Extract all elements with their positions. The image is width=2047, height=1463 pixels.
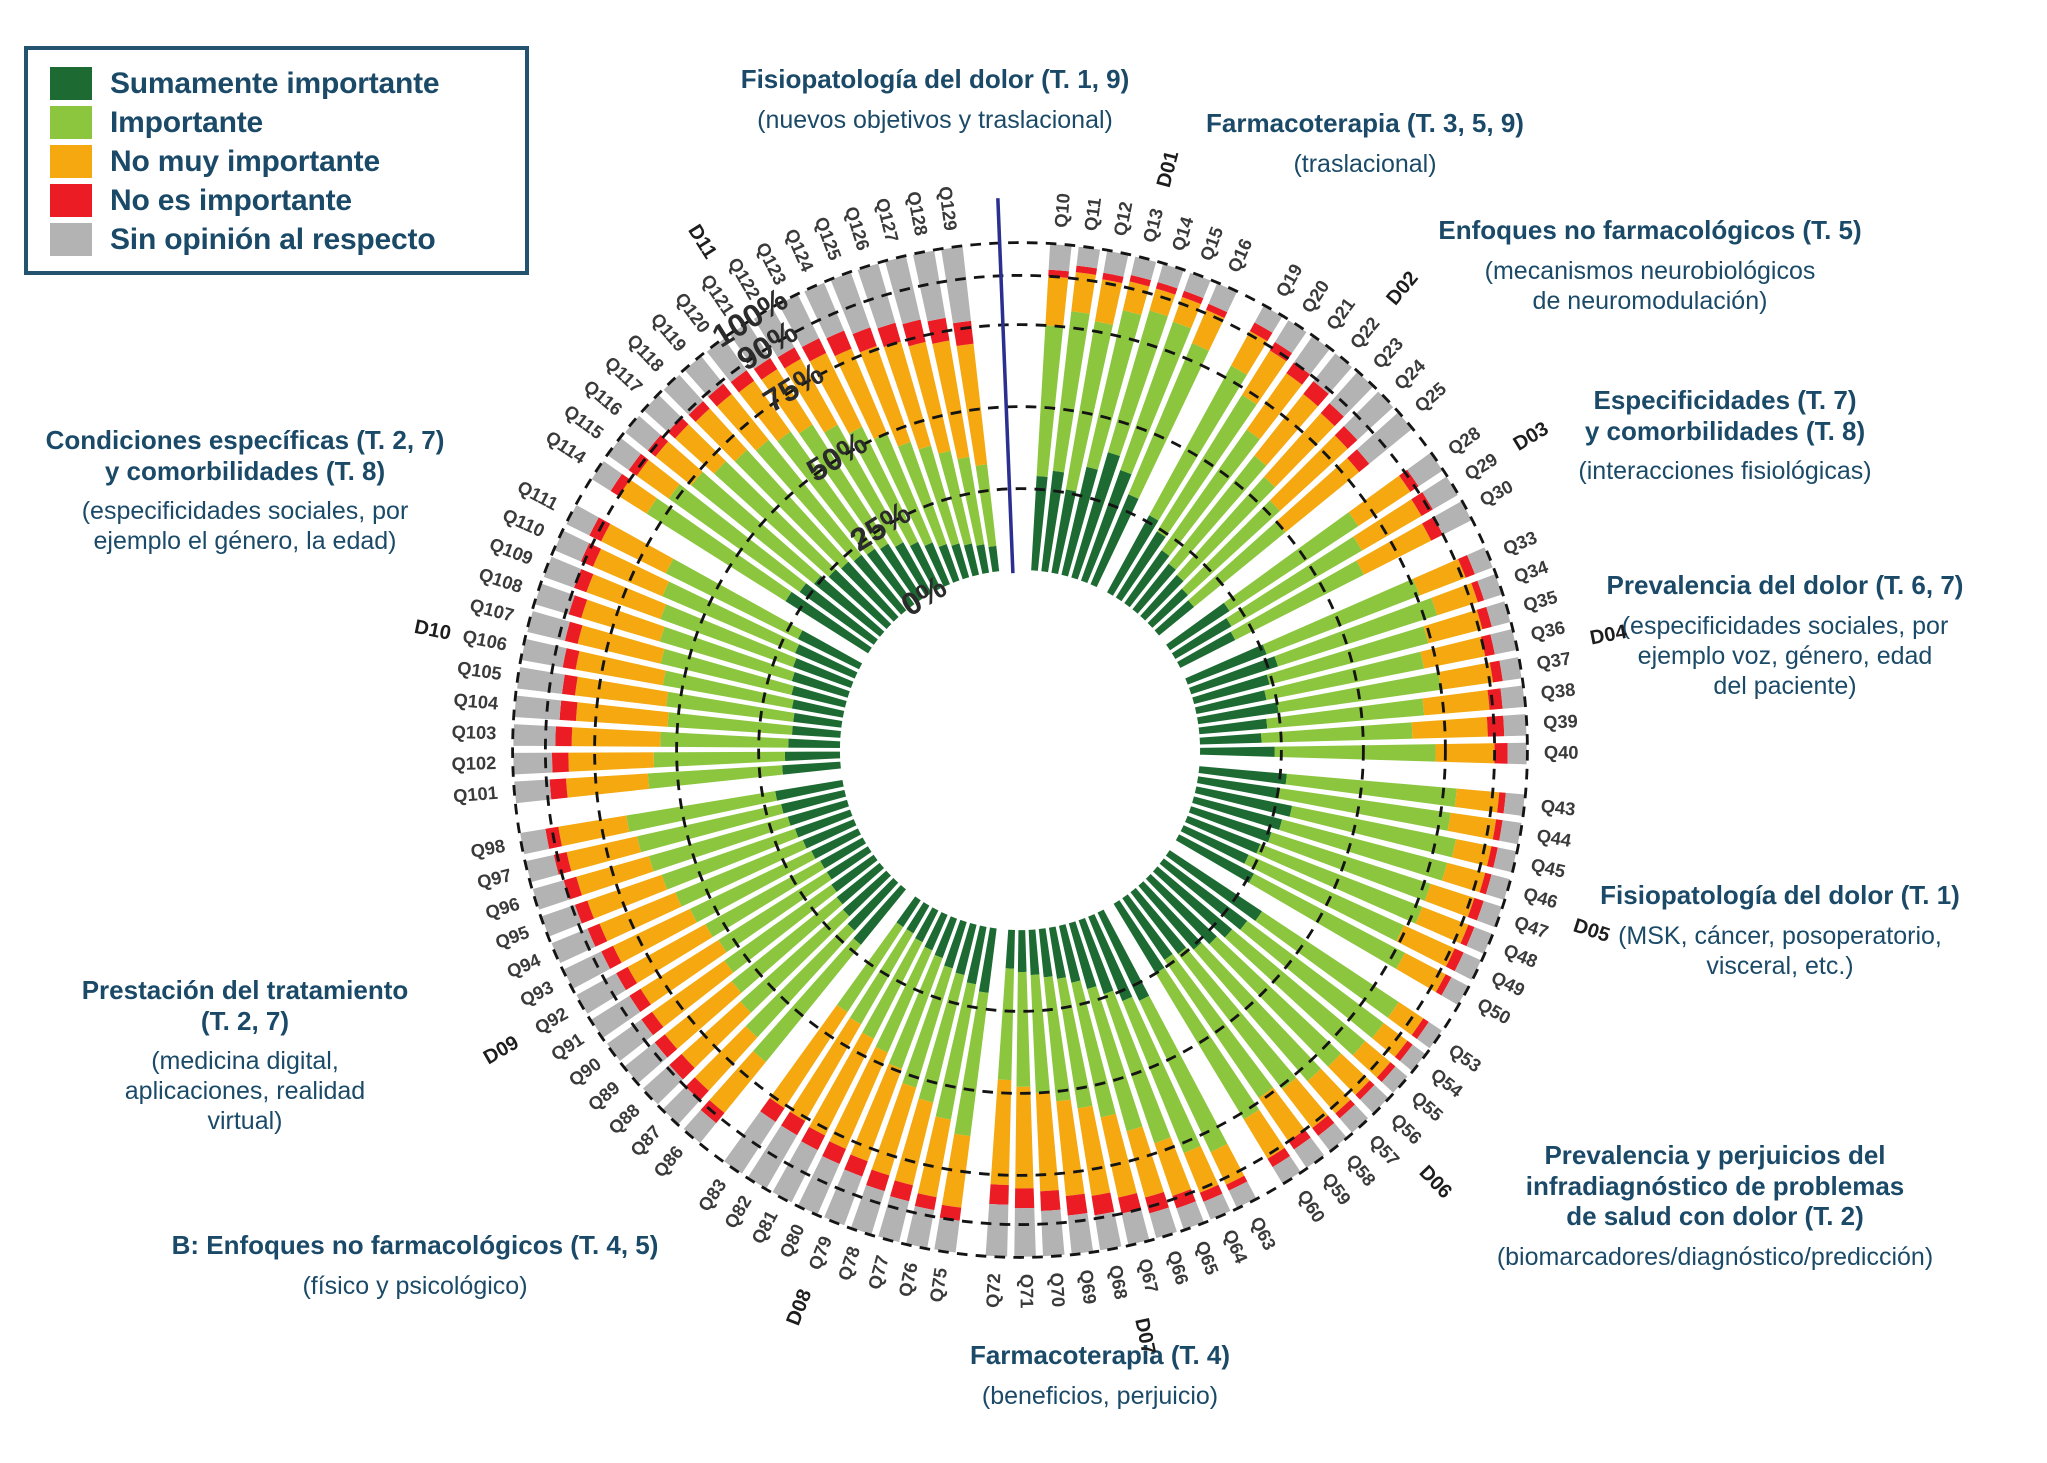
callout-sub: (nuevos objetivos y traslacional)	[700, 105, 1170, 135]
question-label-Q16: Q16	[1223, 235, 1256, 275]
axis-line	[998, 198, 1013, 573]
question-label-Q15: Q15	[1195, 224, 1227, 264]
legend-swatch-sumamente-importante	[50, 67, 92, 100]
domain-label-D02: D02	[1382, 267, 1422, 309]
bar-segment	[988, 1184, 1009, 1205]
question-label-Q19: Q19	[1271, 260, 1306, 300]
bars-layer	[513, 243, 1528, 1257]
question-label-Q71: Q71	[1016, 1274, 1037, 1309]
bar-segment	[1508, 742, 1528, 765]
question-label-Q60: Q60	[1293, 1186, 1329, 1226]
question-label-Q40: Q40	[1544, 741, 1579, 762]
domain-label-D05: D05	[1571, 915, 1613, 947]
callout-farmacoterapia-4: Farmacoterapia (T. 4) (beneficios, perju…	[880, 1340, 1320, 1411]
question-label-Q128: Q128	[903, 189, 932, 237]
question-label-Q46: Q46	[1521, 883, 1560, 913]
callout-sub: (beneficios, perjuicio)	[880, 1381, 1320, 1411]
bar-segment	[1065, 1194, 1088, 1216]
circular-stacked-bar-chart: Q10Q11Q12Q13Q14Q15Q16Q19Q20Q21Q22Q23Q24Q…	[430, 160, 1610, 1340]
bar-segment	[1076, 246, 1101, 269]
question-label-Q95: Q95	[492, 921, 532, 953]
bar-segment	[1494, 742, 1507, 764]
callout-title: Condiciones específicas (T. 2, 7)y comor…	[10, 425, 480, 486]
legend-label-3: No es importante	[110, 186, 352, 216]
callout-sub: (especificidades sociales, porejemplo vo…	[1575, 611, 1995, 701]
question-label-Q45: Q45	[1529, 854, 1567, 882]
question-label-Q29: Q29	[1461, 448, 1501, 484]
question-label-Q105: Q105	[456, 657, 503, 684]
question-label-Q77: Q77	[864, 1253, 893, 1292]
bar-segment	[1487, 688, 1502, 711]
question-label-Q53: Q53	[1445, 1039, 1485, 1076]
question-label-Q79: Q79	[804, 1233, 836, 1273]
question-label-Q33: Q33	[1500, 526, 1540, 559]
question-label-Q13: Q13	[1138, 206, 1167, 245]
bar-segment	[1048, 243, 1072, 271]
question-label-Q64: Q64	[1219, 1226, 1252, 1267]
question-label-Q70: Q70	[1046, 1272, 1069, 1308]
question-label-Q11: Q11	[1080, 196, 1105, 232]
question-label-Q96: Q96	[483, 893, 522, 923]
question-label-Q91: Q91	[547, 1028, 587, 1065]
bar-segment	[1039, 1190, 1061, 1211]
axis-start-line	[998, 198, 1013, 573]
question-label-Q94: Q94	[504, 949, 545, 982]
question-label-Q75: Q75	[925, 1266, 951, 1303]
legend-swatch-no-es-importante	[50, 184, 92, 217]
bar-segment	[1500, 685, 1525, 710]
question-label-Q103: Q103	[451, 721, 496, 743]
question-label-Q25: Q25	[1410, 378, 1450, 416]
question-label-Q43: Q43	[1540, 795, 1577, 820]
legend-item-1: Importante	[50, 103, 507, 142]
question-label-Q101: Q101	[452, 782, 498, 807]
question-label-Q65: Q65	[1191, 1238, 1223, 1278]
question-label-Q12: Q12	[1109, 200, 1136, 238]
callout-title: Prestación del tratamiento(T. 2, 7)	[55, 975, 435, 1036]
legend-swatch-sin-opinion	[50, 223, 92, 256]
question-label-Q66: Q66	[1163, 1248, 1193, 1287]
callout-sub: (especificidades sociales, porejemplo el…	[10, 496, 480, 556]
question-label-Q68: Q68	[1105, 1263, 1132, 1301]
question-label-Q82: Q82	[720, 1192, 756, 1232]
question-label-Q69: Q69	[1076, 1268, 1101, 1305]
question-label-Q109: Q109	[487, 533, 536, 569]
question-label-Q104: Q104	[453, 689, 500, 714]
legend-swatch-importante	[50, 106, 92, 139]
bar-segment	[513, 723, 556, 746]
question-label-Q20: Q20	[1297, 276, 1333, 316]
callout-fisiopatologia-1: Fisiopatología del dolor (T. 1) (MSK, cá…	[1570, 880, 1990, 981]
question-label-Q107: Q107	[468, 594, 517, 626]
question-label-Q58: Q58	[1342, 1150, 1380, 1190]
question-label-Q28: Q28	[1444, 422, 1484, 459]
legend-label-1: Importante	[110, 108, 263, 138]
domain-label-D01: D01	[1153, 149, 1183, 190]
question-label-Q34: Q34	[1511, 556, 1551, 587]
question-label-Q86: Q86	[649, 1141, 687, 1181]
domain-label-D03: D03	[1510, 418, 1553, 456]
question-label-Q98: Q98	[469, 835, 507, 862]
question-label-Q93: Q93	[516, 976, 556, 1010]
question-label-Q36: Q36	[1529, 616, 1567, 644]
callout-title: Farmacoterapia (T. 4)	[880, 1340, 1320, 1371]
callout-prevalencia-dolor-6-7: Prevalencia del dolor (T. 6, 7) (especif…	[1575, 570, 1995, 701]
question-label-Q102: Q102	[451, 752, 496, 774]
domain-label-D06: D06	[1415, 1161, 1456, 1203]
callout-sub: (medicina digital,aplicaciones, realidad…	[55, 1046, 435, 1136]
legend-swatch-no-muy-importante	[50, 145, 92, 178]
question-label-Q30: Q30	[1476, 475, 1516, 510]
bar-segment	[559, 700, 577, 722]
question-label-Q47: Q47	[1512, 911, 1552, 942]
question-label-Q81: Q81	[747, 1207, 782, 1247]
question-label-Q129: Q129	[935, 185, 962, 232]
question-label-Q78: Q78	[833, 1244, 864, 1283]
question-label-Q97: Q97	[475, 864, 514, 893]
bar-segment	[1014, 1188, 1035, 1208]
callout-title: Prevalencia del dolor (T. 6, 7)	[1575, 570, 1995, 601]
question-label-Q67: Q67	[1134, 1256, 1163, 1294]
domain-label-D10: D10	[412, 616, 452, 645]
question-label-Q125: Q125	[811, 214, 846, 263]
question-label-Q110: Q110	[500, 504, 548, 541]
question-label-Q126: Q126	[841, 204, 874, 253]
question-label-Q92: Q92	[531, 1003, 571, 1039]
question-label-Q63: Q63	[1246, 1213, 1280, 1253]
callout-condiciones-especificas-2-7-8: Condiciones específicas (T. 2, 7)y comor…	[10, 425, 480, 556]
question-label-Q37: Q37	[1535, 647, 1572, 673]
question-label-Q35: Q35	[1521, 586, 1560, 616]
callout-fisiopatologia-1-9: Fisiopatología del dolor (T. 1, 9) (nuev…	[700, 64, 1170, 135]
callout-title: Farmacoterapia (T. 3, 5, 9)	[1175, 108, 1555, 139]
question-label-Q76: Q76	[894, 1260, 922, 1298]
bar-segment	[1503, 713, 1527, 737]
legend-label-2: No muy importante	[110, 147, 380, 177]
question-label-Q111: Q111	[514, 476, 562, 514]
domain-label-D11: D11	[683, 221, 721, 263]
legend-item-0: Sumamente importante	[50, 64, 507, 103]
question-label-Q127: Q127	[872, 196, 903, 244]
polar-chart-svg: Q10Q11Q12Q13Q14Q15Q16Q19Q20Q21Q22Q23Q24Q…	[430, 160, 1610, 1340]
question-label-Q59: Q59	[1318, 1169, 1355, 1209]
legend-label-0: Sumamente importante	[110, 69, 439, 99]
callout-title: Fisiopatología del dolor (T. 1)	[1570, 880, 1990, 911]
question-label-Q72: Q72	[982, 1273, 1005, 1308]
bar-segment	[572, 727, 661, 748]
question-label-Q10: Q10	[1050, 192, 1074, 228]
question-label-Q48: Q48	[1501, 939, 1541, 972]
bar-segment	[1014, 1208, 1037, 1257]
callout-sub: (MSK, cáncer, posoperatorio,visceral, et…	[1570, 921, 1990, 981]
question-label-Q108: Q108	[476, 563, 525, 597]
domain-label-D09: D09	[480, 1032, 523, 1069]
bar-segment	[550, 778, 568, 800]
question-label-Q44: Q44	[1535, 824, 1573, 851]
bar-segment	[555, 726, 572, 747]
domain-label-D08: D08	[782, 1286, 816, 1328]
question-label-Q14: Q14	[1167, 213, 1198, 253]
question-label-Q106: Q106	[461, 625, 509, 654]
question-label-Q50: Q50	[1474, 993, 1514, 1028]
question-label-Q38: Q38	[1540, 679, 1577, 704]
bar-segment	[1412, 716, 1488, 739]
legend-label-4: Sin opinión al respecto	[110, 225, 435, 255]
question-label-Q80: Q80	[775, 1221, 809, 1261]
question-label-Q83: Q83	[694, 1175, 731, 1215]
callout-prestacion-tratamiento-2-7: Prestación del tratamiento(T. 2, 7) (med…	[55, 975, 435, 1136]
question-label-Q49: Q49	[1488, 967, 1528, 1001]
bar-segment	[552, 752, 569, 773]
callout-title: Fisiopatología del dolor (T. 1, 9)	[700, 64, 1170, 95]
question-label-Q39: Q39	[1543, 710, 1579, 733]
